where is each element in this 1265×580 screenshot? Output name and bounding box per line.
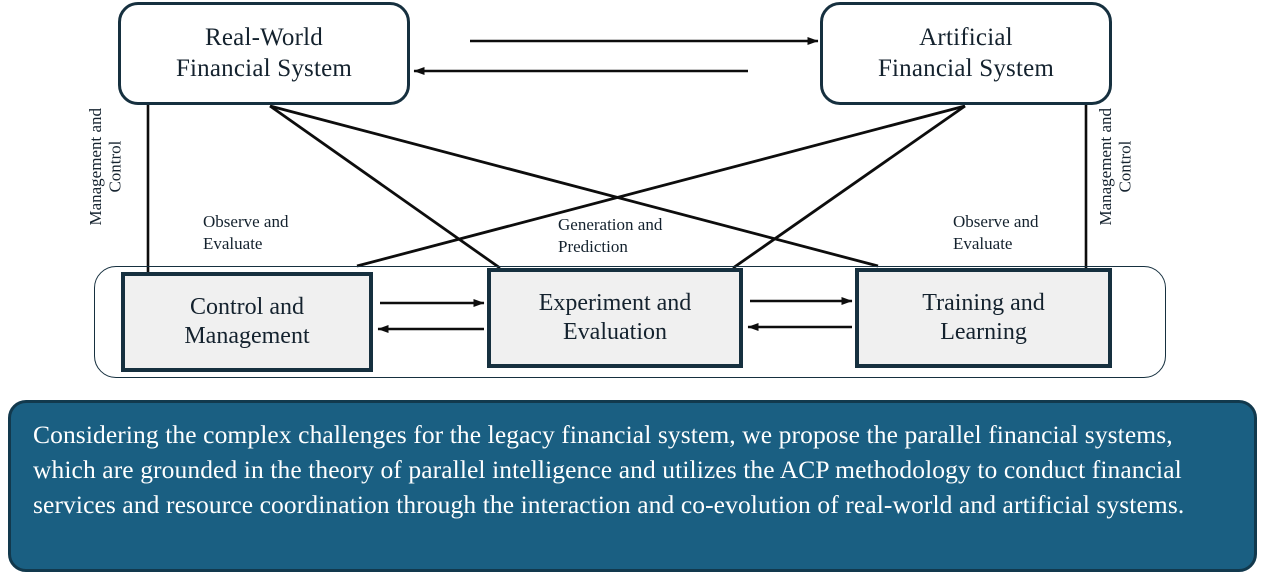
line-artificial-to-experiment xyxy=(733,106,965,268)
node-artificial-financial-system[interactable]: Artificial Financial System xyxy=(820,2,1112,105)
edge-label-line2: Control xyxy=(106,108,126,226)
edge-label-line1: Observe and xyxy=(203,211,288,233)
edge-label-left-management-and-control: Management and Control xyxy=(86,108,125,226)
node-training-and-learning[interactable]: Training and Learning xyxy=(855,268,1112,368)
caption-banner: Considering the complex challenges for t… xyxy=(8,400,1257,572)
node-label-line1: Experiment and xyxy=(539,289,692,318)
node-label-line1: Training and xyxy=(922,289,1044,318)
node-label-line1: Artificial xyxy=(919,23,1013,54)
line-real-to-experiment xyxy=(270,106,500,268)
node-control-and-management[interactable]: Control and Management xyxy=(121,272,373,372)
node-label-line2: Learning xyxy=(940,318,1027,347)
edge-label-line1: Generation and xyxy=(558,214,662,236)
edge-label-line2: Control xyxy=(1116,108,1136,226)
edge-label-line2: Evaluate xyxy=(203,233,288,255)
edge-label-right-management-and-control: Management and Control xyxy=(1096,108,1135,226)
node-real-world-financial-system[interactable]: Real-World Financial System xyxy=(118,2,410,105)
edge-label-line1: Management and xyxy=(86,108,105,226)
node-label-line1: Real-World xyxy=(205,23,323,54)
edge-label-line2: Evaluate xyxy=(953,233,1038,255)
diagram-canvas: Real-World Financial System Artificial F… xyxy=(0,0,1265,580)
edge-label-observe-and-evaluate-right: Observe and Evaluate xyxy=(953,211,1038,255)
node-experiment-and-evaluation[interactable]: Experiment and Evaluation xyxy=(487,268,743,368)
edge-label-observe-and-evaluate-left: Observe and Evaluate xyxy=(203,211,288,255)
node-label-line2: Financial System xyxy=(176,54,352,85)
edge-label-generation-and-prediction: Generation and Prediction xyxy=(558,214,662,258)
edge-label-line1: Observe and xyxy=(953,211,1038,233)
edge-label-line2: Prediction xyxy=(558,236,662,258)
node-label-line2: Evaluation xyxy=(563,318,667,347)
node-label-line2: Management xyxy=(184,322,309,351)
node-label-line1: Control and xyxy=(190,293,304,322)
node-label-line2: Financial System xyxy=(878,54,1054,85)
edge-label-line1: Management and xyxy=(1096,108,1115,226)
